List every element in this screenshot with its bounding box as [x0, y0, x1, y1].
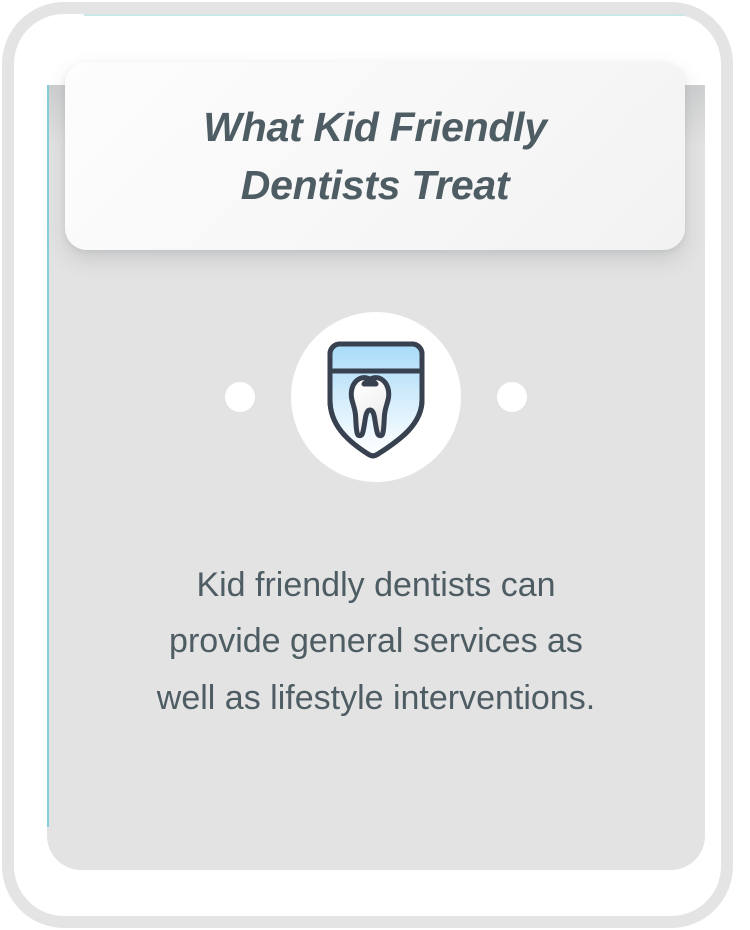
title-line-2: Dentists Treat — [203, 156, 546, 214]
card-header: What Kid Friendly Dentists Treat — [65, 62, 685, 250]
page-title: What Kid Friendly Dentists Treat — [177, 98, 572, 214]
shield-top-band — [330, 344, 422, 370]
card-description: Kid friendly dentists can provide genera… — [67, 557, 685, 726]
right-decor-dot — [497, 382, 527, 412]
icon-badge — [291, 312, 461, 482]
icon-row — [47, 312, 705, 492]
left-decor-dot — [225, 382, 255, 412]
shield-tooth-icon — [316, 332, 436, 462]
description-line-2: provide general services as — [67, 613, 685, 669]
title-line-1: What Kid Friendly — [203, 98, 546, 156]
frame-top-accent-line — [84, 14, 684, 16]
description-line-1: Kid friendly dentists can — [67, 557, 685, 613]
description-line-3: well as lifestyle interventions. — [67, 670, 685, 726]
